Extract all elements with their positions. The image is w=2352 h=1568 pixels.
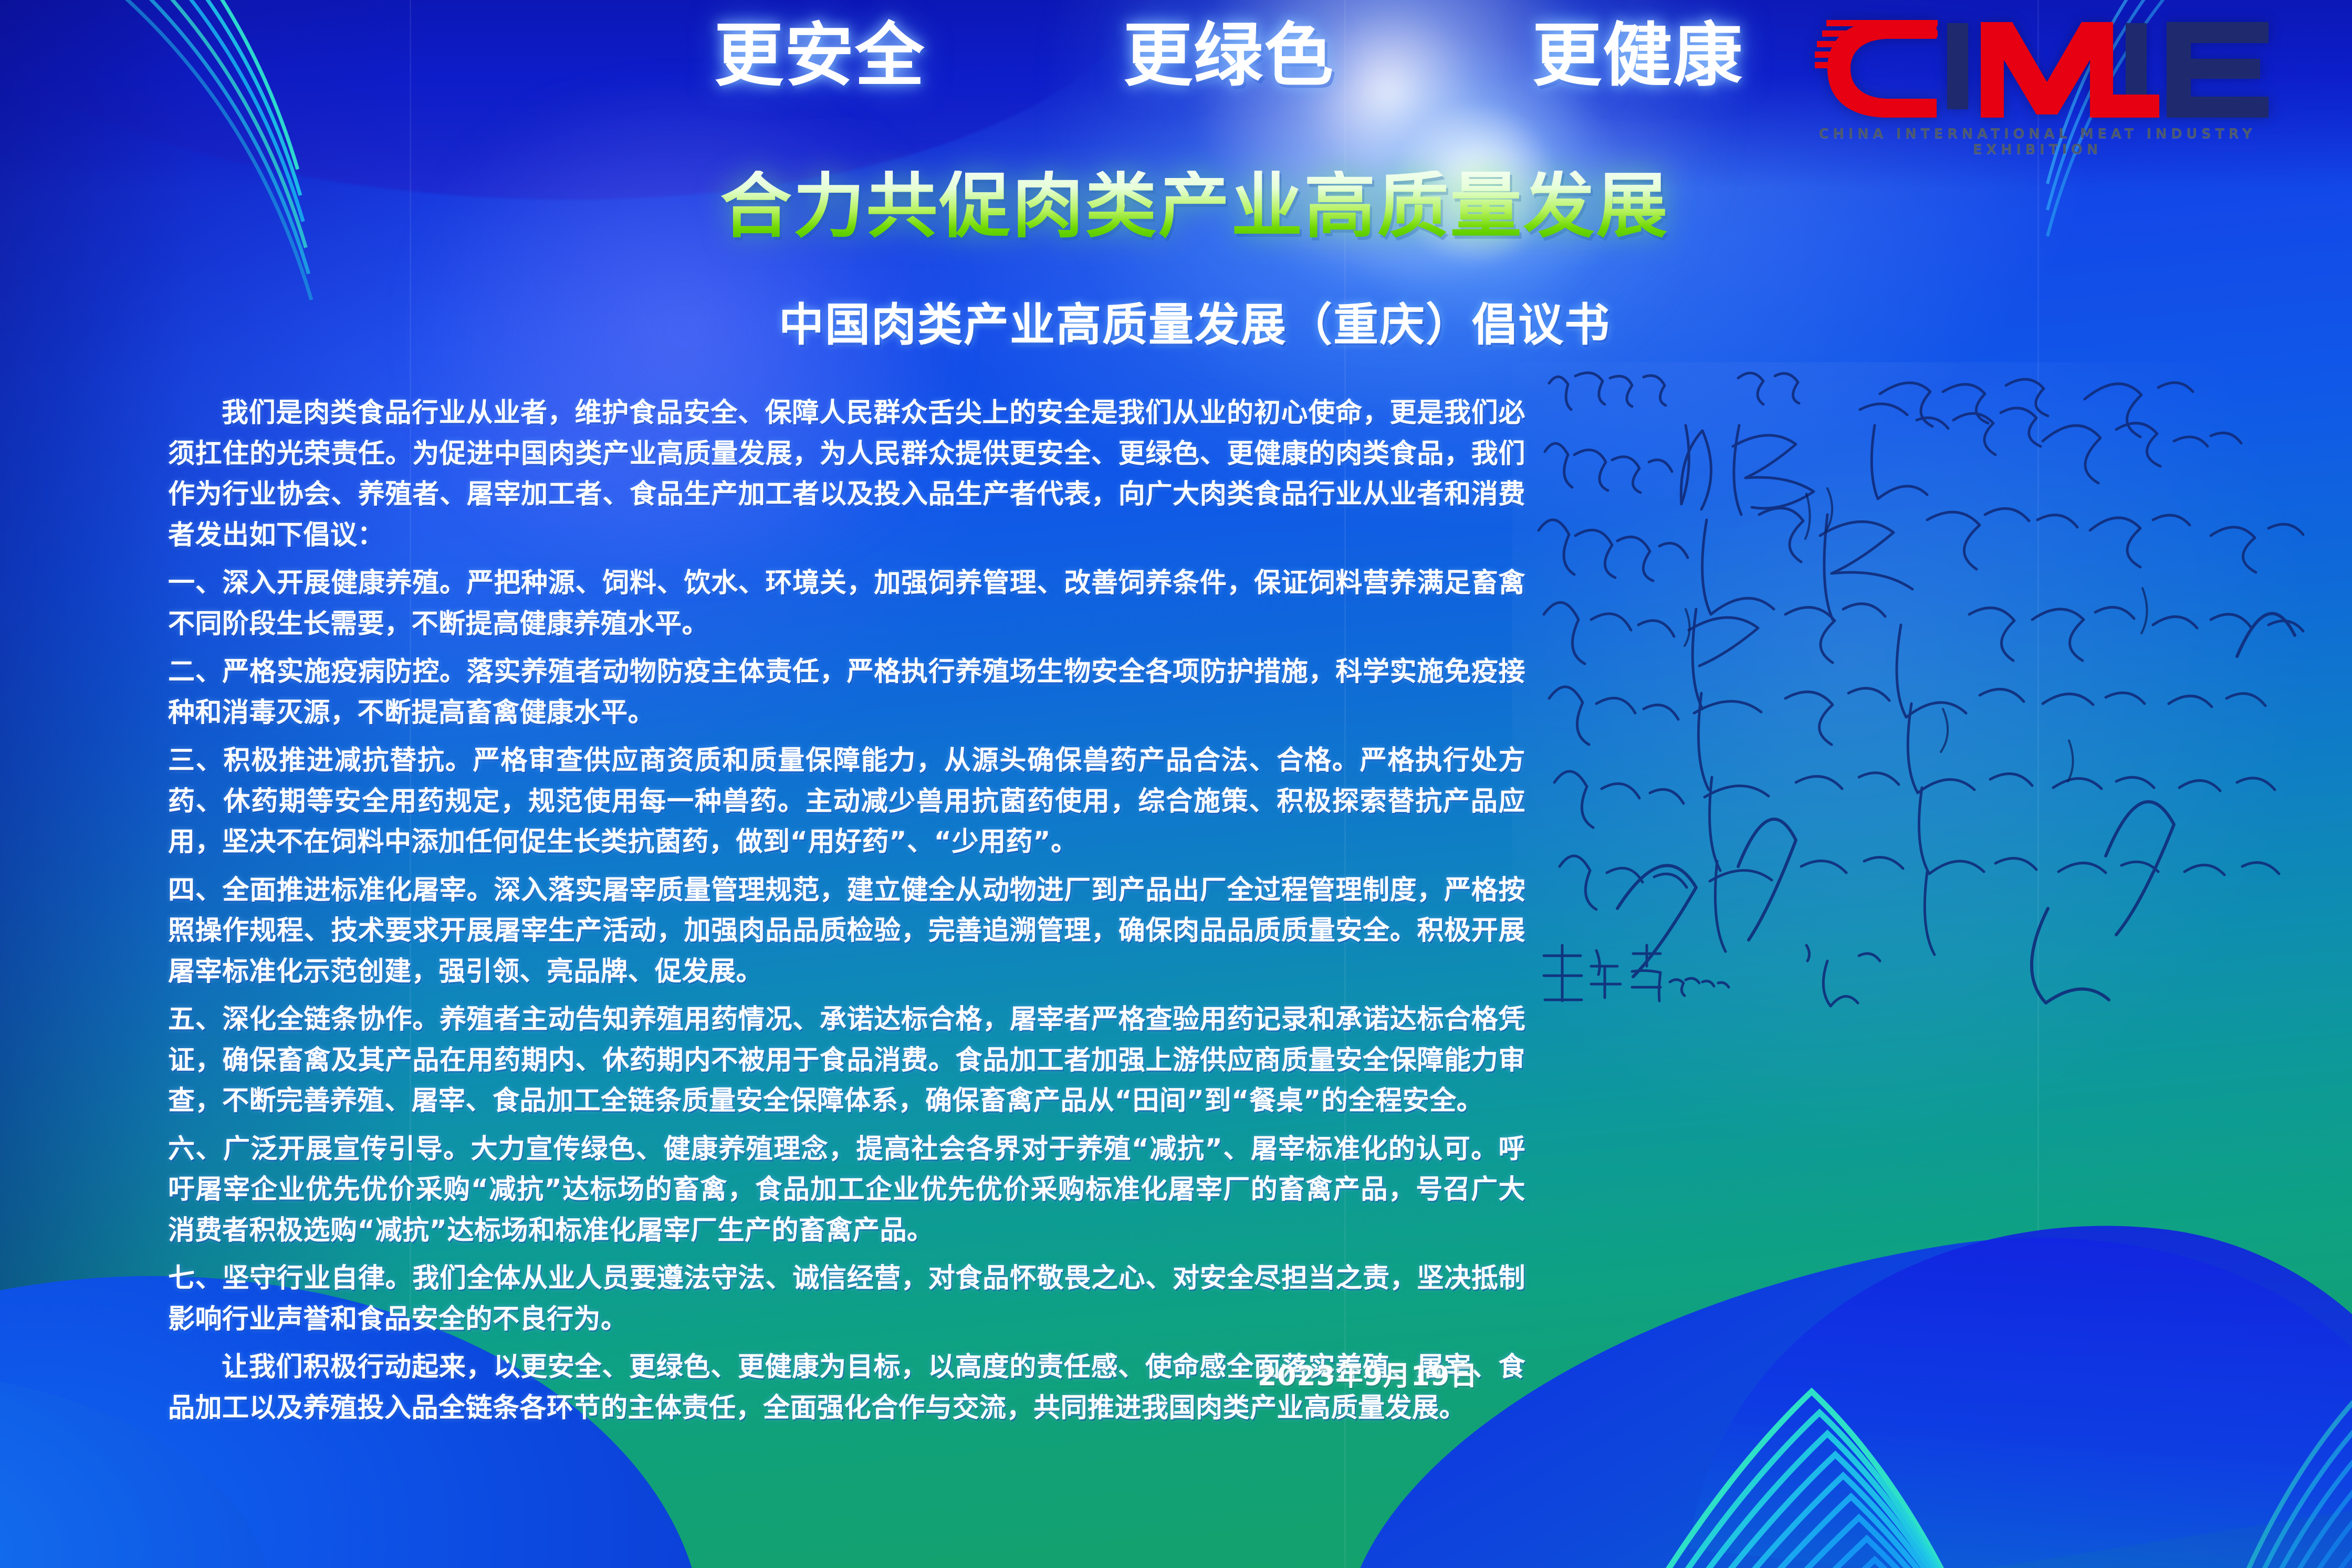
signing-date: 2023年9月19日 — [1258, 1354, 1478, 1393]
body-item-6: 六、广泛开展宣传引导。大力宣传绿色、健康养殖理念，提高社会各界对于养殖“减抗”、… — [168, 1129, 1525, 1251]
proposal-body: 我们是肉类食品行业从业者，维护食品安全、保障人民群众舌尖上的安全是我们从业的初心… — [168, 393, 1525, 1436]
headline-part-1: 更安全 — [714, 21, 925, 90]
headline-part-2: 更绿色 — [1123, 21, 1334, 90]
body-item-2: 二、严格实施疫病防控。落实养殖者动物防疫主体责任，严格执行养殖场生物安全各项防护… — [168, 652, 1525, 733]
body-item-3: 三、积极推进减抗替抗。严格审查供应商资质和质量保障能力，从源头确保兽药产品合法、… — [168, 740, 1525, 863]
headline-slogan: 更安全 更绿色 更健康 — [714, 21, 1743, 90]
headline-part-3: 更健康 — [1532, 21, 1743, 90]
ribbon-stripes-bottom-right-2 — [1785, 1145, 2352, 1568]
cimie-logo: CHINA INTERNATIONAL MEAT INDUSTRY EXHIBI… — [1796, 15, 2279, 151]
body-item-7: 七、坚守行业自律。我们全体从业人员要遵法守法、诚信经营，对食品怀敬畏之心、对安全… — [168, 1258, 1525, 1340]
subheadline: 合力共促肉类产业高质量发展 — [612, 171, 1778, 242]
exhibition-backdrop-photo: 更安全 更绿色 更健康 合力共促肉类产业高质量发展 中国肉类产业高质量发展（重庆… — [0, 0, 2352, 1568]
body-item-1: 一、深入开展健康养殖。严把种源、饲料、饮水、环境关，加强饲养管理、改善饲养条件，… — [168, 563, 1525, 644]
body-item-4: 四、全面推进标准化屠宰。深入落实屠宰质量管理规范，建立健全从动物进厂到产品出厂全… — [168, 870, 1525, 992]
cimie-logo-tagline: CHINA INTERNATIONAL MEAT INDUSTRY EXHIBI… — [1796, 126, 2279, 158]
page-title: 中国肉类产业高质量发展（重庆）倡议书 — [612, 288, 1778, 353]
body-intro: 我们是肉类食品行业从业者，维护食品安全、保障人民群众舌尖上的安全是我们从业的初心… — [168, 393, 1525, 556]
body-item-5: 五、深化全链条协作。养殖者主动告知养殖用药情况、承诺达标合格，屠宰者严格查验用药… — [168, 999, 1525, 1122]
signature-area-sheen — [1512, 362, 2352, 1203]
cimie-logo-mark — [1796, 15, 2279, 123]
